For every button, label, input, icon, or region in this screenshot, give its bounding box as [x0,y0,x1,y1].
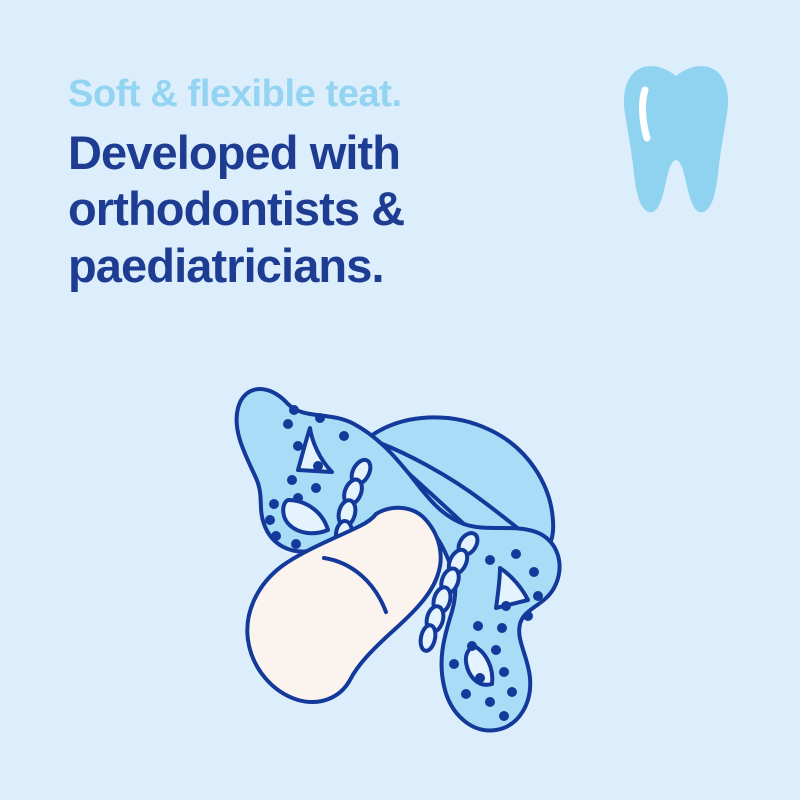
shield-dot [293,441,303,451]
shield-dot [265,515,275,525]
headline-line-2: orthodontists & [68,181,628,237]
shield-dot [497,623,507,633]
shield-dot [499,711,509,721]
cutout-oval [418,624,437,652]
tooth-icon [620,62,732,218]
pacifier-icon [228,368,594,754]
shield-dot [523,611,533,621]
shield-dot [511,549,521,559]
tooth-body [624,66,728,212]
shield-dot [485,555,495,565]
page-title: Developed with orthodontists & paediatri… [68,125,628,294]
eyebrow-text: Soft & flexible teat. [68,72,628,117]
promo-card: Soft & flexible teat. Developed with ort… [0,0,800,800]
shield-dot [449,659,459,669]
shield-dot [311,483,321,493]
copy-block: Soft & flexible teat. Developed with ort… [68,72,628,294]
shield-dot [269,499,279,509]
pacifier-illustration [228,368,594,754]
shield-dot [313,461,323,471]
headline-line-3: paediatricians. [68,238,628,294]
shield-dot [467,641,477,651]
shield-dot [293,493,303,503]
shield-dot [475,673,485,683]
shield-dot [289,405,299,415]
headline-line-1: Developed with [68,125,628,181]
shield-dot [461,689,471,699]
shield-dot [507,687,517,697]
shield-dot [533,591,543,601]
shield-dot [287,475,297,485]
shield-dot [501,601,511,611]
shield-dot [315,413,325,423]
shield-dot [529,567,539,577]
shield-dot [339,431,349,441]
shield-dot [473,621,483,631]
shield-dot [271,531,281,541]
shield-dot [291,539,301,549]
shield-dot [499,667,509,677]
shield-dot [491,645,501,655]
shield-dot [485,697,495,707]
shield-dot [283,419,293,429]
tooth-badge [620,62,732,218]
